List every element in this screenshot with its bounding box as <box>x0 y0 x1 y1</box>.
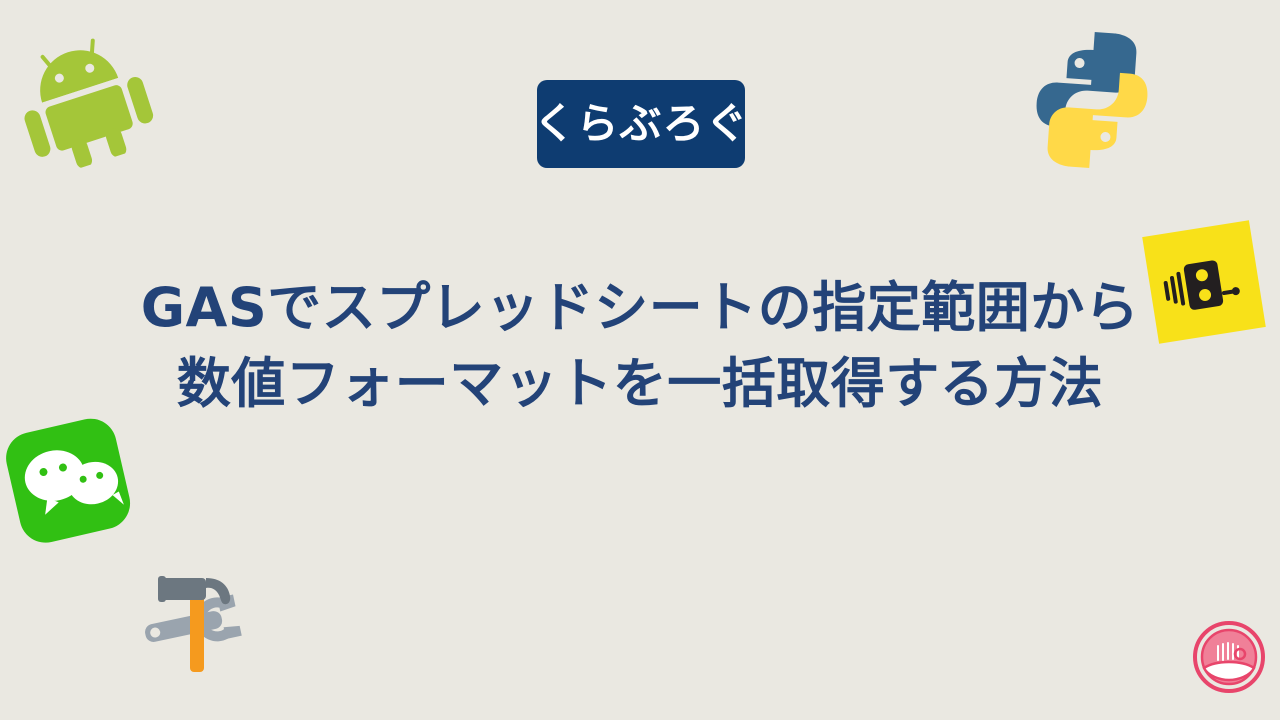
page-title-line-2: 数値フォーマットを一括取得する方法 <box>0 346 1280 422</box>
sushi-stamp-icon <box>1192 620 1266 694</box>
python-logo-icon <box>1017 27 1166 172</box>
site-logo-badge[interactable]: くらぶろぐ <box>537 80 745 168</box>
page-title-line-1: GASでスプレッドシートの指定範囲から <box>0 270 1280 346</box>
hammer-and-wrench-icon <box>132 558 268 678</box>
site-logo-text: くらぶろぐ <box>534 103 749 145</box>
android-logo-icon <box>0 10 170 183</box>
page-title: GASでスプレッドシートの指定範囲から 数値フォーマットを一括取得する方法 <box>0 270 1280 422</box>
wechat-logo-icon <box>0 406 150 553</box>
thumbnail-canvas: くらぶろぐ GASでスプレッドシートの指定範囲から 数値フォーマットを一括取得す… <box>0 0 1280 720</box>
